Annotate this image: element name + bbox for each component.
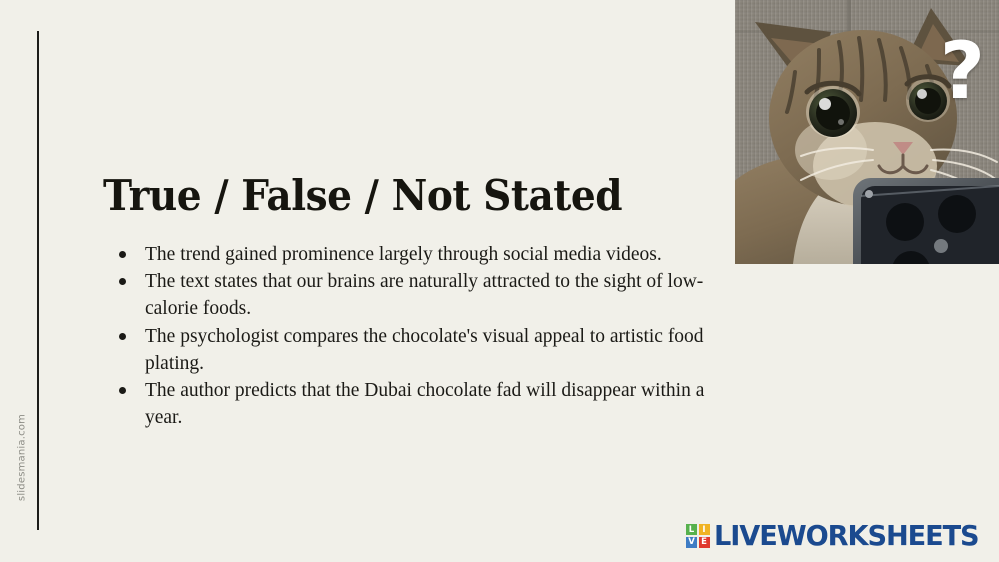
list-item-text: The author predicts that the Dubai choco… xyxy=(145,380,704,428)
bullet-dot-icon xyxy=(119,278,126,285)
slidesmania-watermark: slidesmania.com xyxy=(17,403,28,513)
bullet-dot-icon xyxy=(119,333,126,340)
statement-list: The trend gained prominence largely thro… xyxy=(112,241,712,431)
cat-photo: ? xyxy=(735,0,999,264)
slide-canvas: slidesmania.com True / False / Not State… xyxy=(0,0,999,562)
list-item: The author predicts that the Dubai choco… xyxy=(112,377,712,431)
bullet-dot-icon xyxy=(119,387,126,394)
question-mark-overlay: ? xyxy=(940,33,985,111)
list-item-text: The trend gained prominence largely thro… xyxy=(145,244,662,265)
logo-tile-l: L xyxy=(686,524,697,535)
list-item-text: The text states that our brains are natu… xyxy=(145,271,703,319)
liveworksheets-wordmark: LIVEWORKSHEETS xyxy=(714,521,979,551)
bullet-dot-icon xyxy=(119,251,126,258)
list-item: The trend gained prominence largely thro… xyxy=(112,241,712,268)
list-item: The text states that our brains are natu… xyxy=(112,268,712,322)
liveworksheets-logo-mark: L I V E xyxy=(686,524,710,548)
liveworksheets-logo[interactable]: L I V E LIVEWORKSHEETS xyxy=(686,518,986,554)
left-accent-rule xyxy=(37,31,39,530)
list-item: The psychologist compares the chocolate'… xyxy=(112,323,712,377)
logo-tile-v: V xyxy=(686,537,697,548)
logo-tile-i: I xyxy=(699,524,710,535)
list-item-text: The psychologist compares the chocolate'… xyxy=(145,326,704,374)
logo-tile-e: E xyxy=(699,537,710,548)
slide-title: True / False / Not Stated xyxy=(103,170,622,222)
